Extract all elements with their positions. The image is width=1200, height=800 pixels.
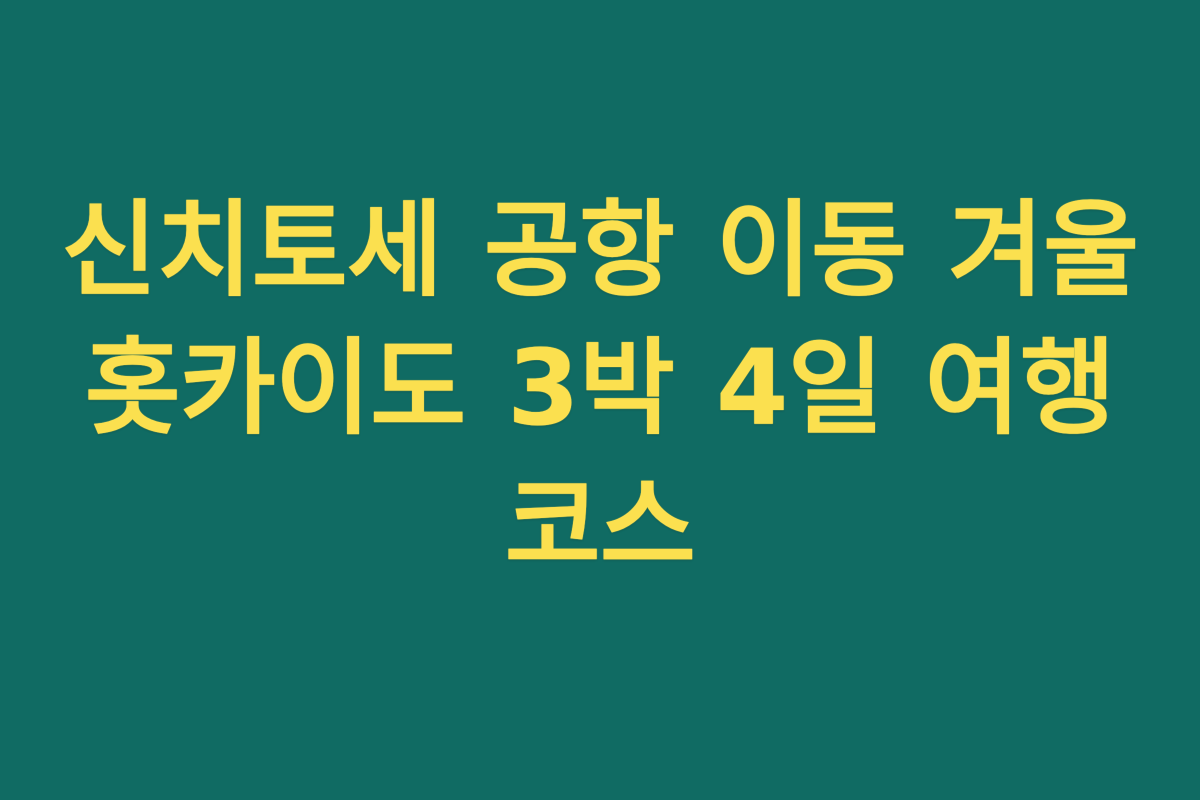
banner-canvas: 신치토세 공항 이동 겨울 홋카이도 3박 4일 여행 코스 (0, 0, 1200, 800)
page-title: 신치토세 공항 이동 겨울 홋카이도 3박 4일 여행 코스 (60, 181, 1140, 595)
